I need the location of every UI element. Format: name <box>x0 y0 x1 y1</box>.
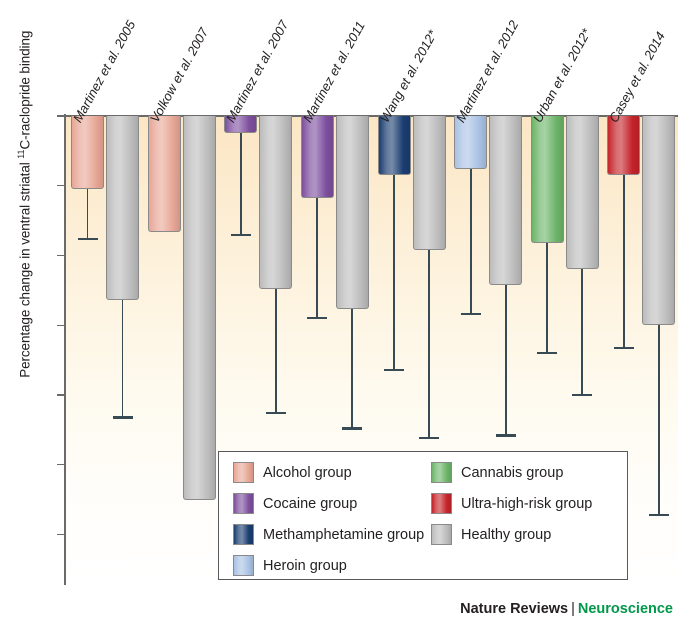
legend-label-cocaine: Cocaine group <box>263 496 357 512</box>
bar-alcohol-1 <box>71 116 104 189</box>
error-bar-line <box>428 250 430 438</box>
footer-section: Neuroscience <box>578 601 673 617</box>
footer-separator: | <box>568 601 578 617</box>
y-axis-tick <box>57 255 65 256</box>
legend-label-healthy: Healthy group <box>461 527 551 543</box>
y-axis-title-post: C-raclopride binding <box>17 31 32 150</box>
chart-figure: Percentage change in ventral striatal 11… <box>0 0 685 627</box>
legend-item-methamphetamine: Methamphetamine group <box>233 524 424 545</box>
legend-label-cannabis: Cannabis group <box>461 465 563 481</box>
error-bar-line <box>87 189 89 239</box>
legend-swatch-cocaine <box>233 493 254 514</box>
legend-item-alcohol: Alcohol group <box>233 462 352 483</box>
error-bar-line <box>316 198 318 318</box>
y-axis-title: Percentage change in ventral striatal 11… <box>16 0 33 414</box>
x-axis-category-label: Casey et al. 2014 <box>606 29 668 125</box>
journal-footer: Nature Reviews|Neuroscience <box>460 601 673 617</box>
error-bar-line <box>240 133 242 235</box>
error-bar-cap <box>113 416 133 418</box>
legend-swatch-methamphetamine <box>233 524 254 545</box>
error-bar-cap <box>384 369 404 371</box>
error-bar-line <box>581 269 583 395</box>
legend-label-alcohol: Alcohol group <box>263 465 352 481</box>
legend-item-cannabis: Cannabis group <box>431 462 563 483</box>
y-axis-tick <box>57 464 65 465</box>
bar-cocaine-4 <box>301 116 334 198</box>
error-bar-line <box>658 325 660 515</box>
bar-healthy-6 <box>489 116 522 285</box>
y-axis-title-pre: Percentage change in ventral striatal <box>17 159 32 378</box>
y-axis-tick <box>57 534 65 535</box>
footer-journal: Nature Reviews <box>460 601 568 617</box>
bar-healthy-2 <box>183 116 216 500</box>
error-bar-cap <box>572 394 592 396</box>
x-axis-category-label: Martinez et al. 2012 <box>453 18 521 125</box>
error-bar-cap <box>461 313 481 315</box>
error-bar-line <box>351 309 353 429</box>
x-axis-category-label: Martinez et al. 2007 <box>223 18 291 125</box>
error-bar-line <box>505 285 507 436</box>
y-axis-tick <box>57 394 65 395</box>
bar-alcohol-2 <box>148 116 181 232</box>
error-bar-cap <box>419 437 439 439</box>
chart-legend: Alcohol groupCocaine groupMethamphetamin… <box>218 451 628 580</box>
error-bar-line <box>122 300 124 417</box>
legend-item-heroin: Heroin group <box>233 555 347 576</box>
bar-healthy-8 <box>642 116 675 325</box>
error-bar-cap <box>614 347 634 349</box>
bar-heroin-6 <box>454 116 487 169</box>
error-bar-line <box>623 175 625 348</box>
x-axis-category-label: Volkow et al. 2007 <box>147 25 211 125</box>
bar-ultra-high-risk-8 <box>607 116 640 175</box>
x-axis-category-label: Wang et al. 2012* <box>376 28 439 125</box>
error-bar-cap <box>78 238 98 240</box>
error-bar-cap <box>649 514 669 516</box>
error-bar-line <box>393 175 395 370</box>
bar-methamphetamine-5 <box>378 116 411 175</box>
error-bar-cap <box>307 317 327 319</box>
x-axis-category-label: Martinez et al. 2005 <box>70 18 138 125</box>
legend-label-heroin: Heroin group <box>263 558 347 574</box>
legend-item-healthy: Healthy group <box>431 524 551 545</box>
legend-label-methamphetamine: Methamphetamine group <box>263 527 424 543</box>
bar-healthy-4 <box>336 116 369 309</box>
error-bar-cap <box>231 234 251 236</box>
bar-cannabis-7 <box>531 116 564 243</box>
error-bar-line <box>470 169 472 314</box>
x-axis-category-label: Martinez et al. 2011 <box>300 19 368 125</box>
y-axis-title-superscript: 11 <box>16 150 26 159</box>
legend-item-cocaine: Cocaine group <box>233 493 357 514</box>
error-bar-cap <box>266 412 286 414</box>
legend-swatch-alcohol <box>233 462 254 483</box>
y-axis-tick <box>57 325 65 326</box>
bar-healthy-3 <box>259 116 292 289</box>
legend-swatch-heroin <box>233 555 254 576</box>
error-bar-cap <box>537 352 557 354</box>
bar-healthy-5 <box>413 116 446 250</box>
y-axis-tick <box>57 185 65 186</box>
legend-label-ultra-high-risk: Ultra-high-risk group <box>461 496 592 512</box>
error-bar-cap <box>342 427 362 429</box>
error-bar-line <box>275 289 277 413</box>
error-bar-line <box>546 243 548 353</box>
x-axis-category-label: Urban et al. 2012* <box>530 26 594 125</box>
bar-healthy-7 <box>566 116 599 269</box>
error-bar-cap <box>496 434 516 436</box>
y-axis-tick <box>57 115 65 116</box>
legend-swatch-healthy <box>431 524 452 545</box>
bar-healthy-1 <box>106 116 139 300</box>
legend-swatch-cannabis <box>431 462 452 483</box>
legend-swatch-ultra-high-risk <box>431 493 452 514</box>
legend-item-ultra-high-risk: Ultra-high-risk group <box>431 493 592 514</box>
